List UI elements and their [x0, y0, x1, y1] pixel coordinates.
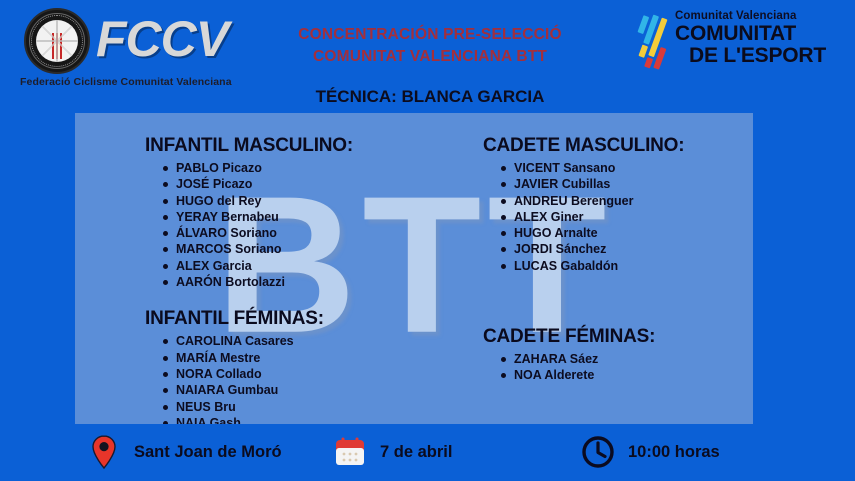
list-item: NOA Alderete [501, 367, 753, 383]
list-item: NEUS Bru [163, 399, 435, 415]
section-heading: CADETE FÉMINAS: [483, 326, 753, 348]
footer-time-label: 10:00 horas [628, 443, 720, 462]
roster-panel: BTT INFANTIL MASCULINO: PABLO PicazoJOSÉ… [75, 113, 753, 424]
section-infantil-masculino: INFANTIL MASCULINO: PABLO PicazoJOSÉ Pic… [145, 135, 435, 290]
list-item: ALEX Giner [501, 209, 753, 225]
poster-title: CONCENTRACIÓN PRE-SELECCIÓ COMUNITAT VAL… [255, 24, 605, 69]
list-item: ANDREU Berenguer [501, 193, 753, 209]
list-item: MARÍA Mestre [163, 350, 435, 366]
fccv-circular-emblem-icon [24, 8, 90, 74]
list-item: CAROLINA Casares [163, 333, 435, 349]
list-item: JAVIER Cubillas [501, 176, 753, 192]
cv-logo-small-line: Comunitat Valenciana [675, 10, 826, 23]
title-line-2: COMUNITAT VALENCIANA BTT [255, 46, 605, 68]
map-pin-icon [84, 432, 124, 472]
list-item: NAIARA Gumbau [163, 382, 435, 398]
section-heading: INFANTIL MASCULINO: [145, 135, 435, 157]
cv-logo-big-line-1: COMUNITAT [675, 23, 826, 46]
poster-canvas: FCCV Federació Ciclisme Comunitat Valenc… [0, 0, 855, 481]
list-item: HUGO del Rey [163, 193, 435, 209]
list-item: NAIA Gash [163, 415, 435, 424]
section-cadete-feminas: CADETE FÉMINAS: ZAHARA SáezNOA Alderete [483, 326, 753, 384]
comunitat-valenciana-logo: Comunitat Valenciana COMUNITAT DE L'ESPO… [629, 10, 841, 74]
roster-column-left: INFANTIL MASCULINO: PABLO PicazoJOSÉ Pic… [145, 135, 435, 424]
roster-column-right: CADETE MASCULINO: VICENT SansanoJAVIER C… [483, 135, 753, 384]
list-item: MARCOS Soriano [163, 241, 435, 257]
name-list: VICENT SansanoJAVIER CubillasANDREU Bere… [501, 160, 753, 274]
name-list: PABLO PicazoJOSÉ PicazoHUGO del ReyYERAY… [163, 160, 435, 290]
section-heading: CADETE MASCULINO: [483, 135, 753, 157]
list-item: VICENT Sansano [501, 160, 753, 176]
list-item: PABLO Picazo [163, 160, 435, 176]
cv-logo-text: Comunitat Valenciana COMUNITAT DE L'ESPO… [675, 10, 826, 68]
poster-footer: Sant Joan de Moró 7 de abril 10:00 horas [0, 424, 855, 481]
poster-header: FCCV Federació Ciclisme Comunitat Valenc… [0, 0, 855, 113]
list-item: HUGO Arnalte [501, 225, 753, 241]
tecnica-line: TÉCNICA: BLANCA GARCIA [255, 87, 605, 107]
fccv-tagline: Federació Ciclisme Comunitat Valenciana [20, 76, 232, 88]
list-item: JORDI Sánchez [501, 241, 753, 257]
name-list: CAROLINA CasaresMARÍA MestreNORA Collado… [163, 333, 435, 424]
footer-place-label: Sant Joan de Moró [134, 443, 282, 462]
section-infantil-feminas: INFANTIL FÉMINAS: CAROLINA CasaresMARÍA … [145, 308, 435, 424]
list-item: LUCAS Gabaldón [501, 258, 753, 274]
title-line-1: CONCENTRACIÓN PRE-SELECCIÓ [255, 24, 605, 46]
footer-place: Sant Joan de Moró [84, 432, 282, 472]
list-item: NORA Collado [163, 366, 435, 382]
footer-time: 10:00 horas [578, 432, 720, 472]
list-item: AARÓN Bortolazzi [163, 274, 435, 290]
fccv-wordmark: FCCV [96, 14, 228, 64]
cv-logo-big-line-2: DE L'ESPORT [675, 45, 826, 68]
footer-date-label: 7 de abril [380, 443, 452, 462]
list-item: JOSÉ Picazo [163, 176, 435, 192]
section-cadete-masculino: CADETE MASCULINO: VICENT SansanoJAVIER C… [483, 135, 753, 274]
section-heading: INFANTIL FÉMINAS: [145, 308, 435, 330]
clock-icon [578, 432, 618, 472]
diagonal-stripes-icon [631, 14, 675, 70]
calendar-icon [330, 432, 370, 472]
footer-date: 7 de abril [330, 432, 452, 472]
list-item: YERAY Bernabeu [163, 209, 435, 225]
fccv-logo: FCCV Federació Ciclisme Comunitat Valenc… [12, 6, 240, 90]
name-list: ZAHARA SáezNOA Alderete [501, 351, 753, 384]
list-item: ÁLVARO Soriano [163, 225, 435, 241]
list-item: ZAHARA Sáez [501, 351, 753, 367]
list-item: ALEX Garcia [163, 258, 435, 274]
emblem-dotted-ring [31, 15, 83, 67]
